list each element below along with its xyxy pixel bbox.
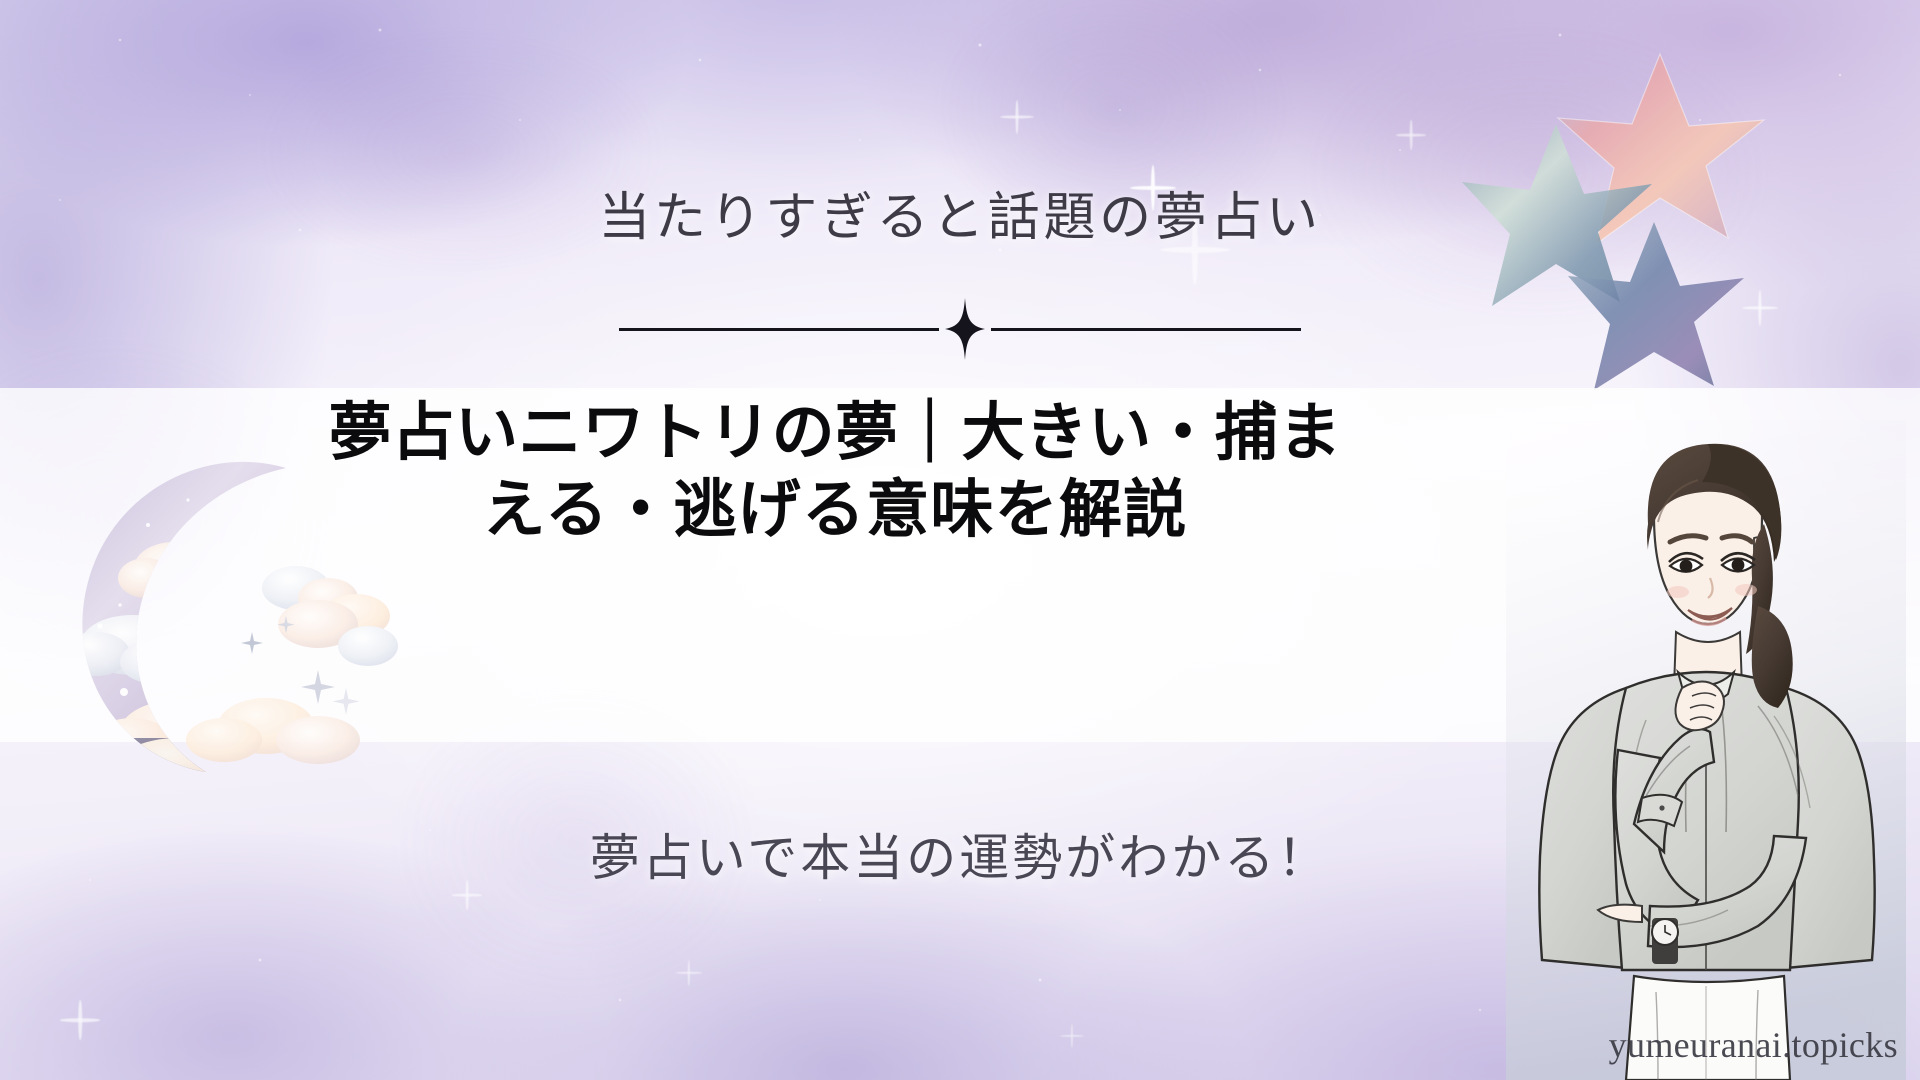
thumbnail-canvas: 当たりすぎると話題の夢占い xyxy=(0,0,1920,1080)
kicker-text: 当たりすぎると話題の夢占い xyxy=(0,190,1920,247)
page-title: 夢占いニワトリの夢｜大きい・捕ま える・逃げる意味を解説 xyxy=(300,395,1370,549)
four-point-star-icon xyxy=(945,298,985,360)
page-title-line-1: 夢占いニワトリの夢｜大きい・捕ま xyxy=(300,395,1370,472)
divider-rule-left xyxy=(619,328,939,331)
site-watermark: yumeuranai.topicks xyxy=(1609,1024,1898,1066)
divider-rule-right xyxy=(991,328,1301,331)
woman-illustration xyxy=(1506,420,1906,1080)
page-title-line-2: える・逃げる意味を解説 xyxy=(300,472,1370,549)
decorative-divider xyxy=(0,298,1920,360)
